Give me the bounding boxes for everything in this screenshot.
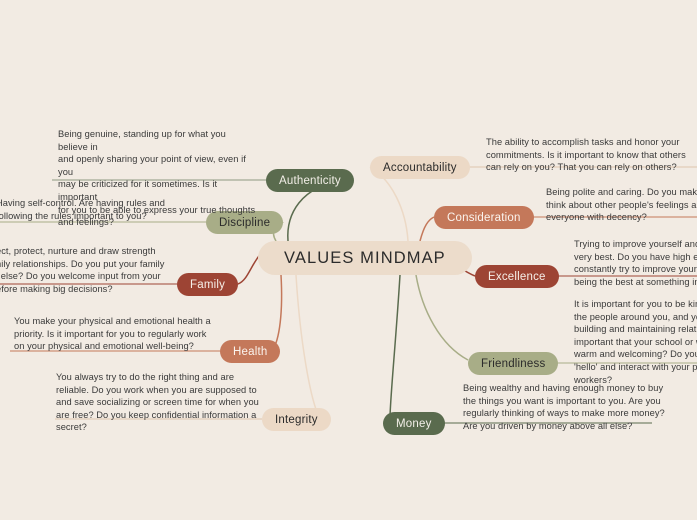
connector-consideration [420,217,434,241]
description-family: ect, protect, nurture and draw strength … [0,245,196,295]
description-excellence: Trying to improve yourself and alw very … [574,238,697,288]
connector-friendliness [416,275,468,360]
description-discipline: Having self-control. Are having rules an… [0,197,211,222]
branch-node-accountability[interactable]: Accountability [370,156,470,179]
description-money: Being wealthy and having enough money to… [463,382,693,432]
branch-node-friendliness[interactable]: Friendliness [468,352,558,375]
description-consideration: Being polite and caring. Do you make the… [546,186,697,224]
branch-node-integrity[interactable]: Integrity [262,408,331,431]
branch-node-money[interactable]: Money [383,412,445,435]
description-integrity: You always try to do the right thing and… [56,371,271,434]
branch-node-authenticity[interactable]: Authenticity [266,169,354,192]
branch-node-excellence[interactable]: Excellence [475,265,559,288]
connector-money [390,275,400,418]
branch-node-health[interactable]: Health [220,340,280,363]
description-accountability: The ability to accomplish tasks and hono… [486,136,697,174]
description-friendliness: It is important for you to be kind a the… [574,298,697,386]
connector-integrity [296,275,320,419]
mindmap-canvas: VALUES MINDMAP Authenticity Discipline F… [0,0,697,520]
branch-node-consideration[interactable]: Consideration [434,206,534,229]
description-health: You make your physical and emotional hea… [14,315,229,353]
central-node[interactable]: VALUES MINDMAP [258,241,472,275]
connector-health [272,275,282,351]
